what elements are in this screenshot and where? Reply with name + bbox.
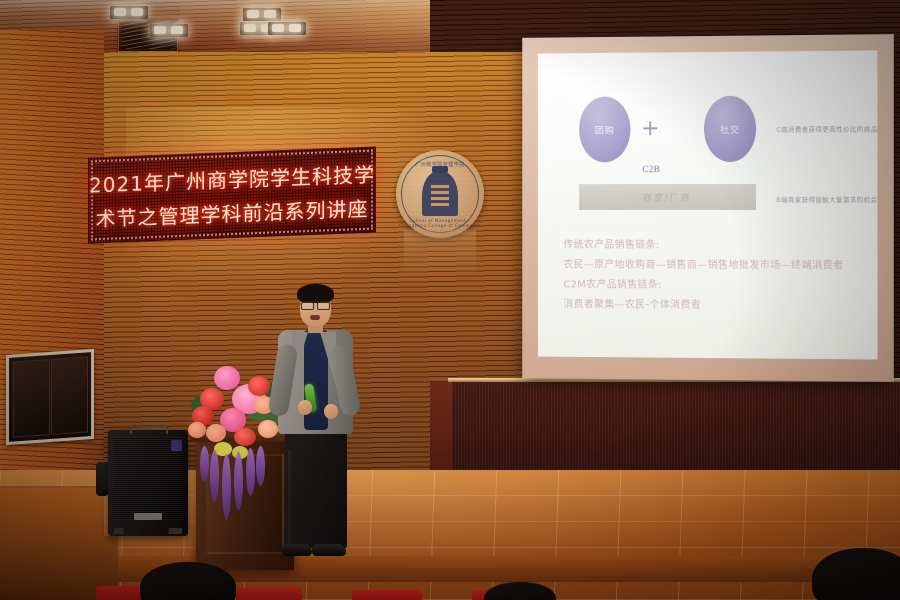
presentation-slide: 团购 + 社交 C2B 商家/厂商 C端消费者获得更高性价比的商品 B端商家获得…	[538, 50, 878, 359]
led-banner-line-2: 术节之管理学科前沿系列讲座	[96, 192, 369, 231]
slide-merchant-bar: 商家/厂商	[579, 184, 756, 210]
slide-merchant-bar-label: 商家/厂商	[643, 191, 692, 204]
school-emblem: 广州商学院管理学院 School of Management · Guangzh…	[396, 150, 484, 238]
seat-back	[352, 590, 422, 600]
speaker-feet	[114, 528, 182, 534]
slide-ellipse-group-buy: 团购	[579, 96, 630, 162]
speaker-leg-split	[288, 450, 291, 546]
window-pane-left	[13, 359, 50, 438]
hanging-orchid	[210, 450, 219, 502]
downlight-icon	[268, 22, 306, 35]
speaker-mouth	[310, 315, 320, 320]
slide-ellipse-social: 社交	[704, 96, 756, 162]
sliding-window	[6, 349, 94, 445]
speaker-handle	[130, 425, 168, 434]
flower-rose-peach	[188, 422, 206, 438]
led-banner-line-1: 2021年广州商学院学生科技学	[89, 158, 375, 198]
projection-screen-frame: 团购 + 社交 C2B 商家/厂商 C端消费者获得更高性价比的商品 B端商家获得…	[522, 34, 894, 382]
speaker-shoe	[282, 544, 312, 556]
slide-ellipse-right-label: 社交	[720, 122, 740, 135]
speaker-person	[258, 282, 370, 572]
panel-texture	[452, 382, 900, 480]
speaker-legs	[285, 430, 347, 548]
led-banner: 2021年广州商学院学生科技学 术节之管理学科前沿系列讲座	[88, 146, 376, 243]
slide-body-line: 消费者聚集—农民-个体消费者	[563, 295, 873, 312]
hanging-orchid	[200, 446, 209, 482]
lecture-hall-photo: 广州商学院管理学院 School of Management · Guangzh…	[0, 0, 900, 600]
projection-screen: 团购 + 社交 C2B 商家/厂商 C端消费者获得更高性价比的商品 B端商家获得…	[538, 50, 878, 359]
slide-body-text: 传统农产品销售链条: 农民—原产地收购商—销售商—销售地批发市场—终端消费者 C…	[563, 236, 873, 312]
flower-rose	[234, 428, 256, 446]
window-pane-right	[51, 356, 88, 435]
emblem-bell-icon	[422, 172, 458, 216]
emblem-arc-bottom: School of Management · Guangzhou College…	[396, 218, 484, 228]
speaker-logo	[134, 513, 162, 520]
downlight-icon	[150, 24, 188, 37]
hanging-orchid	[246, 448, 255, 496]
loudspeaker-cabinet	[108, 430, 188, 536]
downlight-icon	[243, 8, 281, 21]
hanging-orchid	[222, 454, 231, 520]
slide-note-consumer: C端消费者获得更高性价比的商品	[776, 123, 877, 134]
downlight-icon	[110, 6, 148, 19]
slide-note-merchant: B端商家获得接触大量需求的机会	[776, 194, 877, 204]
glasses-icon	[301, 301, 330, 309]
slide-body-line: 农民—原产地收购商—销售商—销售地批发市场—终端消费者	[563, 256, 873, 272]
hanging-orchid	[234, 452, 243, 510]
stage-front-edge	[0, 556, 900, 582]
slide-plus-icon: +	[640, 120, 660, 140]
flower-lily	[214, 366, 240, 390]
slide-body-line: C2M农产品销售链条:	[563, 275, 873, 291]
speaker-badge-icon	[171, 440, 182, 451]
slide-body-line: 传统农产品销售链条:	[563, 236, 873, 252]
flower-rose-peach	[206, 424, 226, 442]
speaker-shoe	[312, 544, 346, 556]
maroon-wall-panel	[452, 382, 900, 480]
speaker-hand-left	[298, 400, 312, 415]
speaker-hand-right	[324, 404, 338, 419]
seat-back	[236, 588, 302, 600]
led-banner-text: 2021年广州商学院学生科技学 术节之管理学科前沿系列讲座	[88, 146, 376, 243]
slide-model-label: C2B	[628, 164, 674, 174]
wall-column	[430, 382, 454, 480]
slide-ellipse-left-label: 团购	[595, 123, 615, 136]
emblem-wall-streak	[404, 230, 476, 276]
